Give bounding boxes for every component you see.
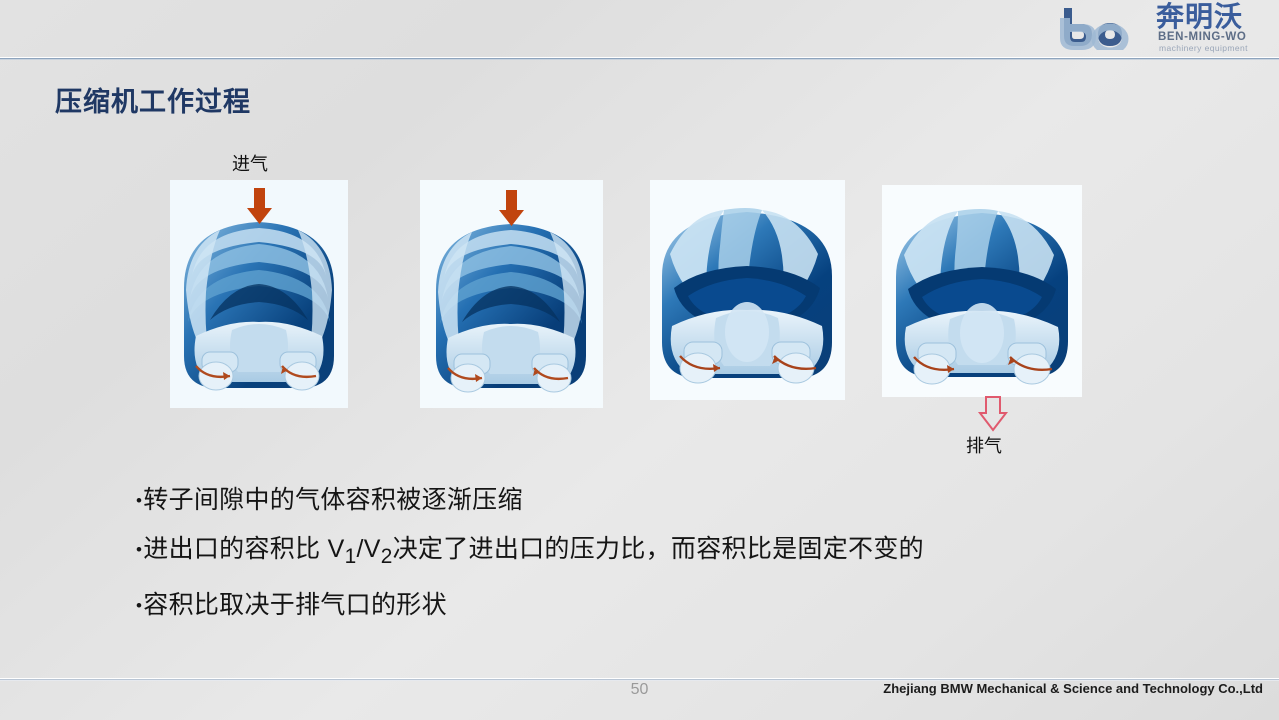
bullet-item-2: •进出口的容积比 V1/V2决定了进出口的压力比，而容积比是固定不变的 [136, 525, 1186, 581]
bullet-text-3: 容积比取决于排气口的形状 [143, 591, 447, 619]
volume-ratio-v1: V [328, 535, 345, 563]
rotor-figure-stage-2 [420, 180, 603, 408]
bullet-text-2-before: 进出口的容积比 [143, 535, 327, 563]
rotor-illustration-2 [420, 180, 603, 408]
exhaust-label: 排气 [966, 432, 1002, 458]
rotor-illustration-1 [170, 180, 348, 408]
logo-tagline: machinery equipment [1159, 43, 1248, 53]
rotor-figure-stage-3 [650, 180, 845, 400]
bullet-dot: • [136, 540, 142, 559]
rotor-figure-stage-1 [170, 180, 348, 408]
header-divider [0, 57, 1279, 60]
bullet-list: •转子间隙中的气体容积被逐渐压缩 •进出口的容积比 V1/V2决定了进出口的压力… [136, 476, 1186, 630]
volume-ratio-sub1: 1 [345, 545, 357, 568]
bullet-text-1: 转子间隙中的气体容积被逐渐压缩 [143, 486, 523, 514]
slide-header: 奔明沃 BEN-MING-WO machinery equipment [0, 0, 1279, 60]
rotor-figure-stage-4 [882, 185, 1082, 397]
volume-ratio-sub2: 2 [381, 545, 393, 568]
rotor-illustration-3 [650, 180, 845, 400]
bo-monogram-icon [1058, 6, 1150, 50]
rotor-illustration-4 [882, 185, 1082, 397]
volume-ratio-slash-v2: /V [357, 535, 381, 563]
compressor-stage-diagrams: 进气 [0, 140, 1279, 470]
bullet-dot: • [136, 491, 142, 510]
bullet-item-1: •转子间隙中的气体容积被逐渐压缩 [136, 476, 1186, 525]
bullet-item-3: •容积比取决于排气口的形状 [136, 581, 1186, 630]
bullet-text-2-after: 决定了进出口的压力比，而容积比是固定不变的 [393, 535, 924, 563]
exhaust-arrow-icon [973, 396, 1013, 432]
logo-chinese-name: 奔明沃 [1156, 2, 1243, 32]
intake-label: 进气 [232, 150, 268, 176]
footer-company-name: Zhejiang BMW Mechanical & Science and Te… [883, 681, 1263, 696]
page-title: 压缩机工作过程 [55, 80, 251, 119]
logo-latin-name: BEN-MING-WO [1158, 31, 1246, 43]
bullet-dot: • [136, 596, 142, 615]
company-logo: 奔明沃 BEN-MING-WO machinery equipment [1058, 2, 1273, 54]
